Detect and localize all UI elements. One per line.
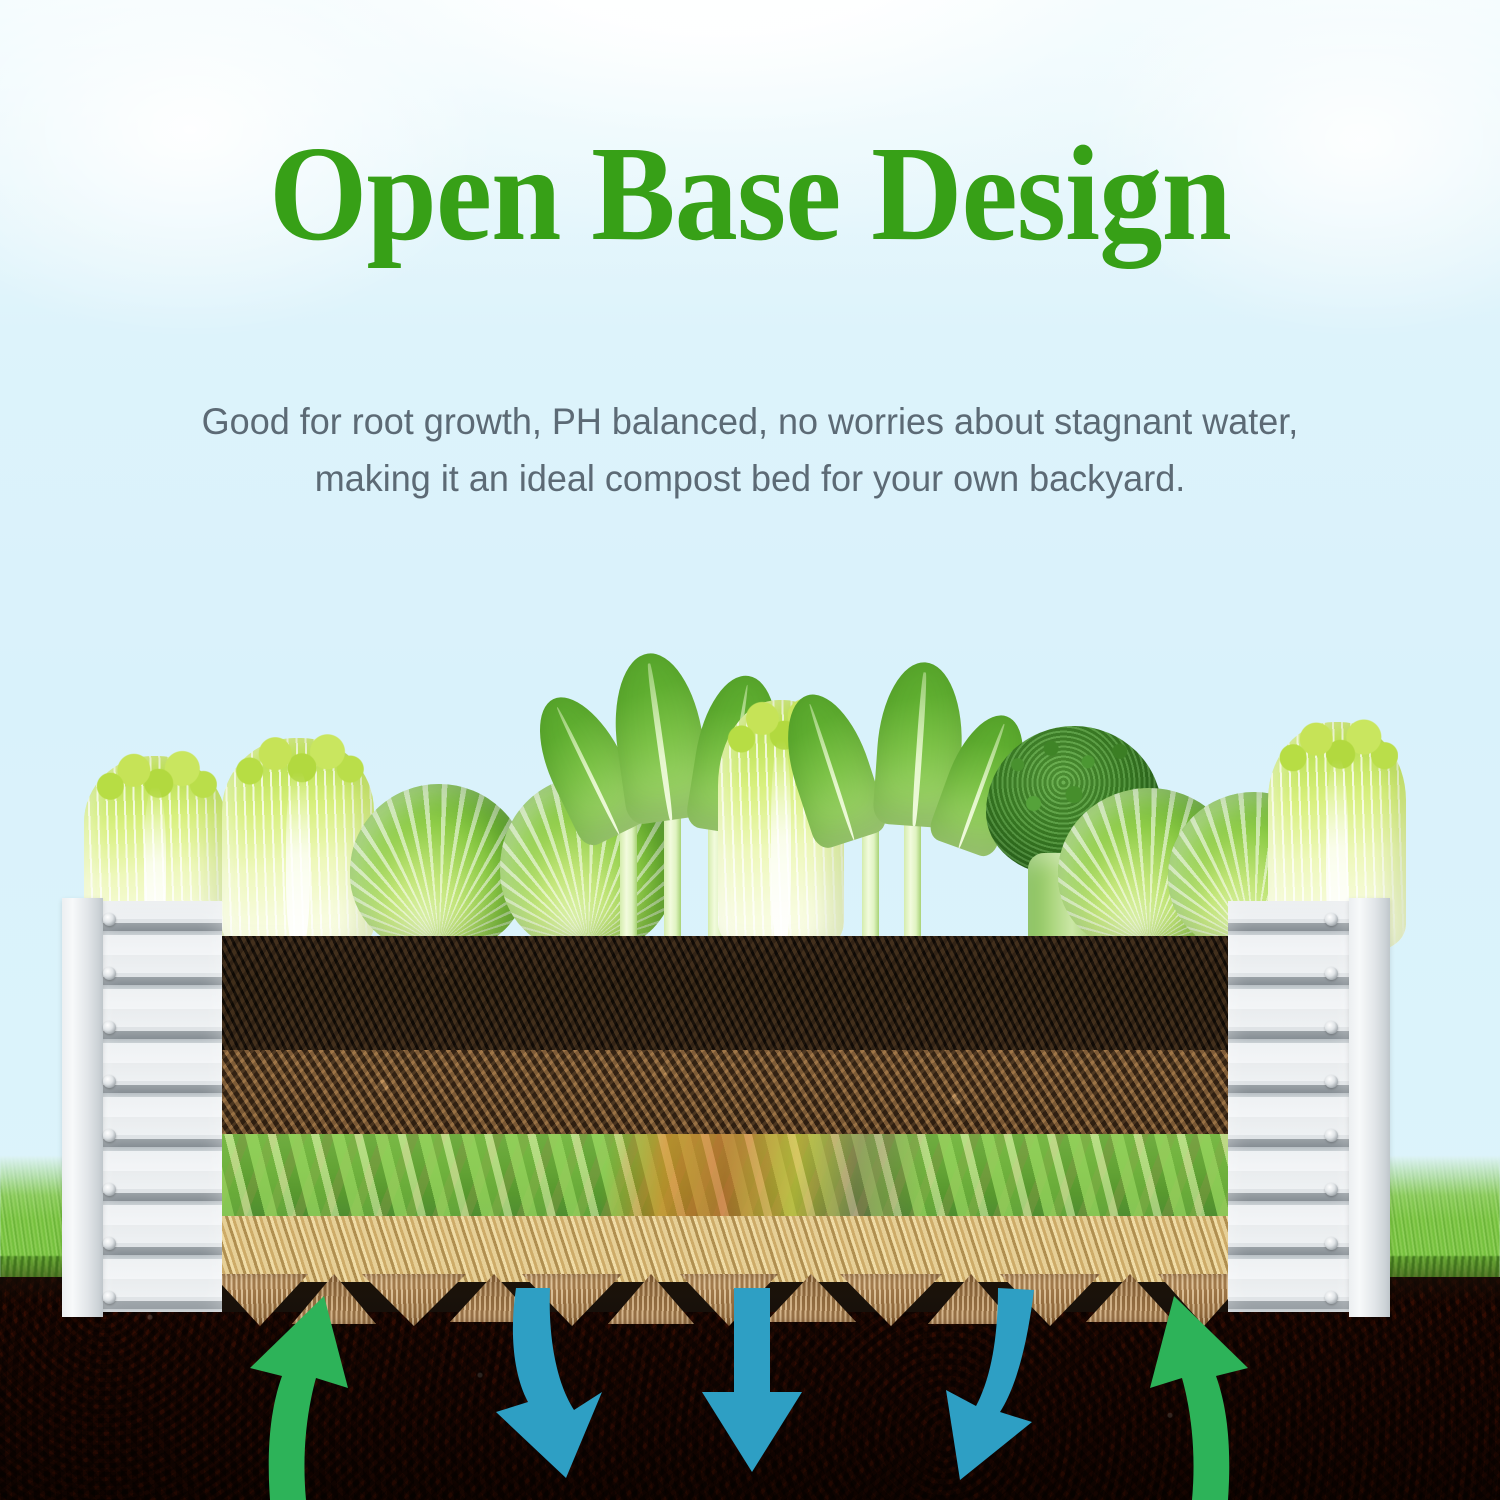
airflow-up-right-arrow bbox=[1112, 1292, 1262, 1500]
airflow-up-left-arrow bbox=[236, 1292, 386, 1500]
drainage-down-arrow-1 bbox=[470, 1288, 610, 1484]
raised-garden-bed-illustration bbox=[0, 0, 1500, 1500]
drainage-down-arrow-2 bbox=[690, 1288, 814, 1476]
airflow-drainage-arrows bbox=[0, 0, 1500, 1500]
infographic-canvas: Open Base Design Good for root growth, P… bbox=[0, 0, 1500, 1500]
drainage-down-arrow-3 bbox=[938, 1288, 1078, 1484]
